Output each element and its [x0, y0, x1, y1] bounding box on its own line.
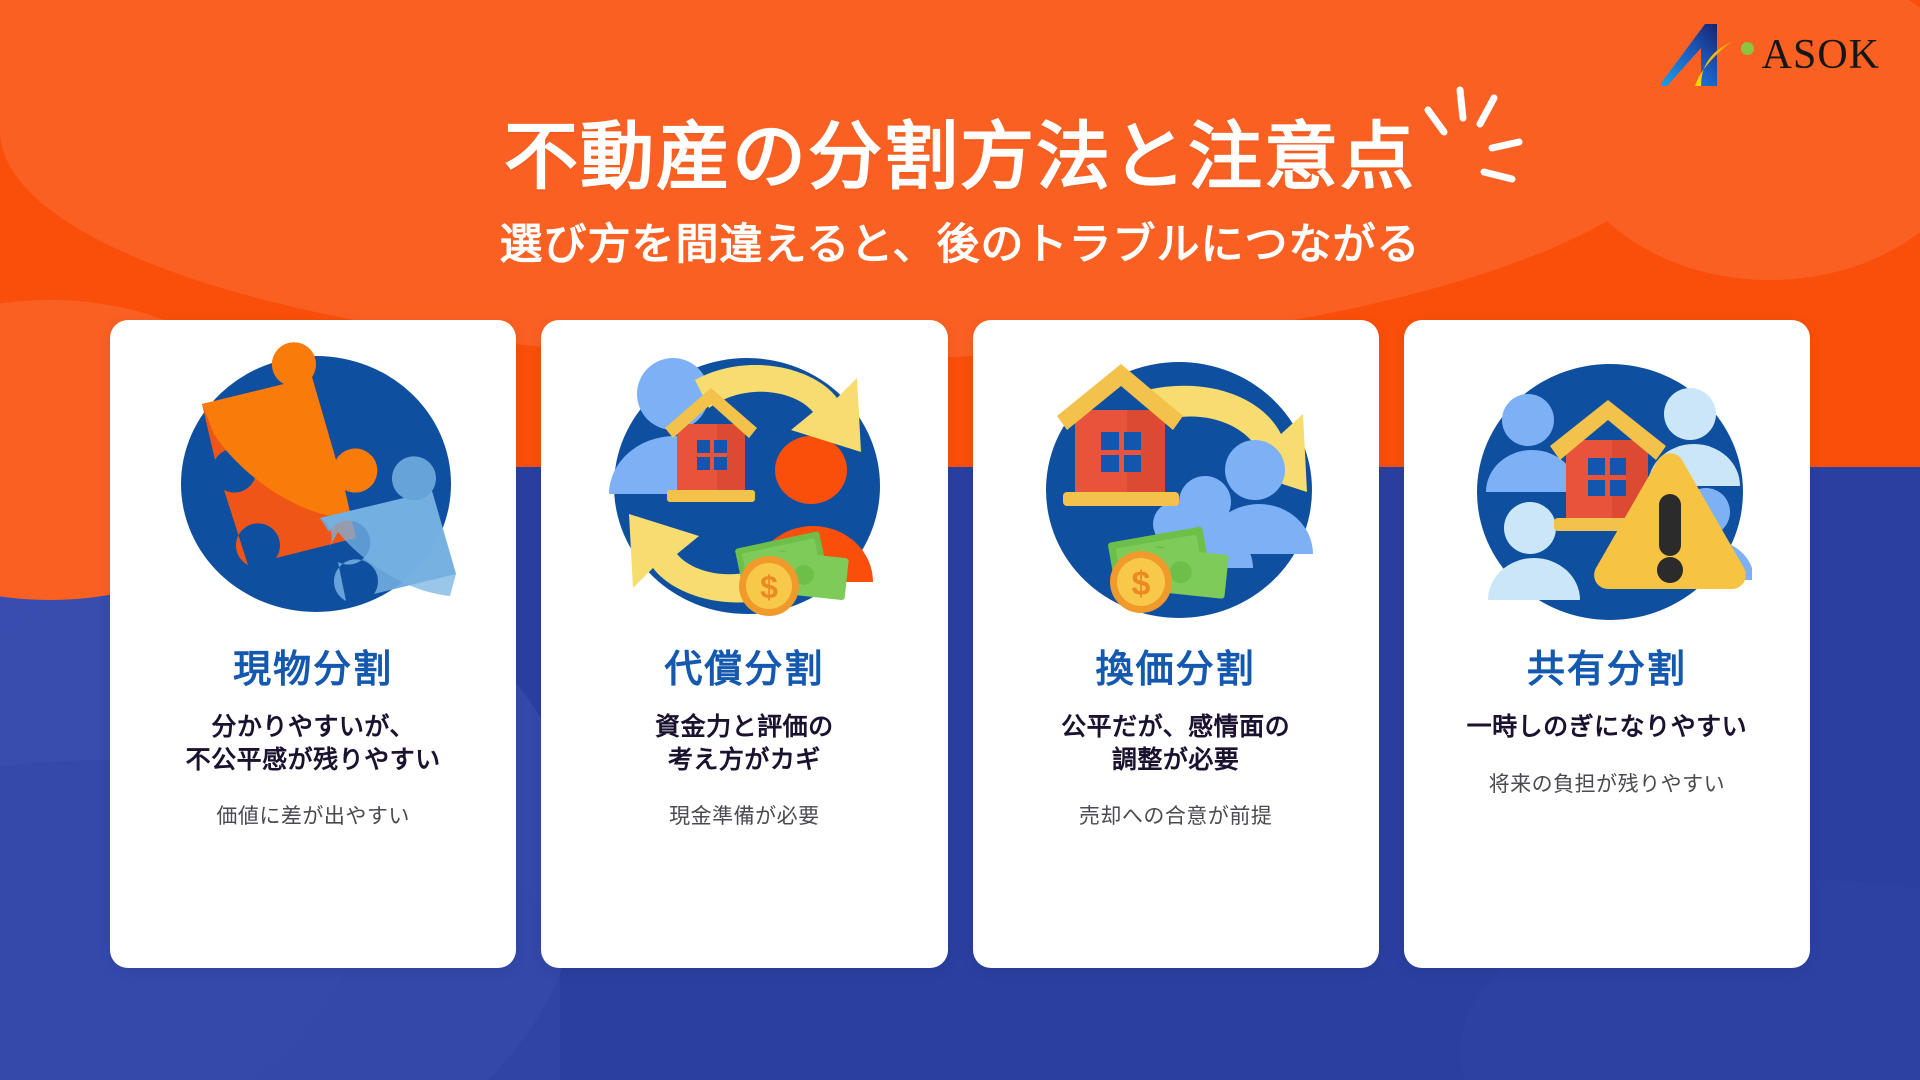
- asok-wordmark: ASOK: [1762, 31, 1880, 79]
- card-lead: 分かりやすいが、 不公平感が残りやすい: [186, 711, 441, 776]
- card-genbutsu-bunkatsu[interactable]: 現物分割 分かりやすいが、 不公平感が残りやすい 価値に差が出やすい: [110, 320, 516, 968]
- card-lead: 資金力と評価の 考え方がカギ: [655, 711, 834, 776]
- house-sold-cash-to-heirs-icon: $: [1031, 342, 1321, 632]
- card-title: 現物分割: [233, 638, 393, 693]
- card-note: 現金準備が必要: [669, 800, 820, 830]
- svg-text:$: $: [1131, 565, 1150, 603]
- card-lead: 公平だが、感情面の 調整が必要: [1061, 711, 1290, 776]
- card-title: 代償分割: [664, 638, 824, 693]
- asok-a-mark: [1661, 22, 1739, 88]
- svg-text:$: $: [760, 569, 778, 605]
- card-daisho-bunkatsu[interactable]: $ 代償分割 資金力と評価の 考え方がカギ 現金準備が必要: [541, 320, 947, 968]
- card-lead-line1: 公平だが、感情面の: [1061, 713, 1290, 741]
- asok-logo: ASOK: [1661, 22, 1880, 88]
- card-lead: 一時しのぎになりやすい: [1467, 711, 1748, 744]
- card-lead-line1: 一時しのぎになりやすい: [1467, 713, 1748, 741]
- card-note: 売却への合意が前提: [1079, 800, 1273, 830]
- header: 不動産の分割方法と注意点 選び方を間違えると、後のトラブルにつながる: [0, 118, 1920, 272]
- card-kanka-bunkatsu[interactable]: $ 換価分割 公平だが、感情面の 調整が必要 売却への合意が前提: [973, 320, 1379, 968]
- card-title: 換価分割: [1096, 638, 1256, 693]
- card-note: 将来の負担が残りやすい: [1489, 768, 1726, 798]
- card-lead-line1: 資金力と評価の: [655, 713, 834, 741]
- card-kyoyu-bunkatsu[interactable]: 共有分割 一時しのぎになりやすい 将来の負担が残りやすい: [1404, 320, 1810, 968]
- page-subtitle: 選び方を間違えると、後のトラブルにつながる: [0, 210, 1920, 272]
- card-title: 共有分割: [1527, 638, 1687, 693]
- shared-house-warning-icon: [1462, 342, 1752, 632]
- card-lead-line1: 分かりやすいが、: [211, 713, 415, 741]
- puzzle-pieces-icon: [168, 342, 458, 632]
- card-lead-line2: 調整が必要: [1112, 746, 1240, 774]
- card-note: 価値に差が出やすい: [216, 800, 410, 830]
- green-dot-icon: [1741, 42, 1754, 55]
- house-for-money-exchange-icon: $: [599, 342, 889, 632]
- sparkle-burst-icon: [1418, 84, 1528, 184]
- page-title: 不動産の分割方法と注意点: [0, 118, 1920, 196]
- card-lead-line2: 考え方がカギ: [668, 746, 821, 774]
- card-row: 現物分割 分かりやすいが、 不公平感が残りやすい 価値に差が出やすい: [110, 320, 1810, 968]
- card-lead-line2: 不公平感が残りやすい: [186, 746, 441, 774]
